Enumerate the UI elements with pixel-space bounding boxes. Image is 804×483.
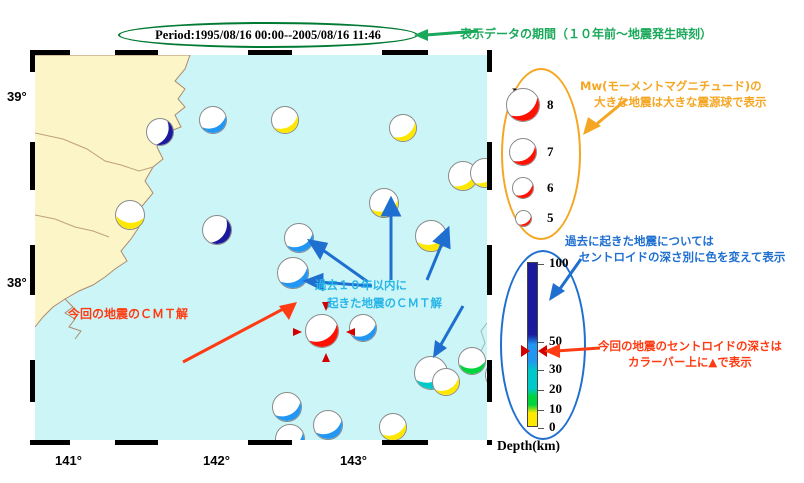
event-navy-coast[interactable] [202, 215, 232, 245]
event-yellow-lower[interactable] [379, 413, 407, 440]
period-text: Period:1995/08/16 00:00--2005/08/16 11:4… [118, 22, 418, 48]
depth-tick-mark-20 [538, 390, 544, 391]
main-event-arrow-icon [175, 300, 305, 370]
event-blue-lower-c[interactable] [313, 410, 343, 440]
event-blue-top[interactable] [199, 106, 227, 134]
event-blue-lower-b[interactable] [275, 424, 305, 440]
event-blue-lower-a[interactable] [272, 392, 302, 422]
past-events-note-line1: 過去１０年以内に [315, 277, 407, 293]
period-banner: Period:1995/08/16 00:00--2005/08/16 11:4… [118, 22, 418, 48]
depth-axis-label: Depth(km) [497, 438, 560, 454]
magnitude-symbol-6[interactable] [512, 177, 534, 199]
lat-tick-39: 39° [7, 89, 27, 104]
event-yellow-behind-teal[interactable] [432, 368, 460, 396]
magnitude-symbol-8[interactable] [506, 88, 540, 122]
magnitude-note: Mw(モーメントマグニチュード)の 大きな地震は大きな震源球で表示 [580, 78, 767, 110]
magnitude-label-5: 5 [547, 210, 554, 226]
past-events-note-line2: 起きた地震のＣＭＴ解 [327, 295, 442, 311]
magnitude-note-line1: Mw(モーメントマグニチュード)の [580, 78, 767, 94]
depth-tick-mark-100 [538, 264, 544, 265]
past-event-arrows-up-icon [355, 155, 465, 285]
lon-tick-142: 142° [203, 453, 230, 468]
lat-tick-38: 38° [7, 275, 27, 290]
depth-tick-mark-30 [538, 370, 544, 371]
map-panel[interactable]: 過去１０年以内に 起きた地震のＣＭＴ解 [30, 50, 492, 445]
magnitude-label-6: 6 [547, 180, 554, 196]
event-navy-north[interactable] [146, 118, 174, 146]
event-yellow-upper-right[interactable] [389, 114, 417, 142]
depth-tick-label-0: 0 [549, 419, 556, 435]
depth-note-line2: セントロイドの深さ別に色を変えて表示 [579, 249, 785, 265]
current-depth-note-line1: 今回の地震のセントロイドの深さは [598, 338, 782, 354]
magnitude-symbol-7[interactable] [509, 138, 537, 166]
event-yellow-land[interactable] [115, 200, 145, 230]
lon-tick-141: 141° [55, 453, 82, 468]
event-yellow-far-right[interactable] [485, 360, 487, 390]
depth-tick-mark-0 [538, 428, 544, 429]
magnitude-symbol-5[interactable] [515, 210, 532, 227]
magnitude-label-8: 8 [547, 97, 554, 113]
event-yellow-right-b[interactable] [470, 158, 487, 188]
depth-note: 過去に起きた地震については セントロイドの深さ別に色を変えて表示 [565, 233, 785, 265]
current-depth-note: 今回の地震のセントロイドの深さは カラーバー上に▲で表示 [598, 338, 782, 370]
map-canvas[interactable]: 過去１０年以内に 起きた地震のＣＭＴ解 [35, 55, 487, 440]
event-yellow-top[interactable] [271, 106, 299, 134]
depth-tick-mark-10 [538, 410, 544, 411]
depth-tick-label-10: 10 [549, 401, 562, 417]
period-annotation-text: 表示データの期間（１０年前〜地震発生時刻） [460, 25, 712, 42]
magnitude-label-7: 7 [547, 144, 554, 160]
depth-tick-label-20: 20 [549, 381, 562, 397]
magnitude-note-line2: 大きな地震は大きな震源球で表示 [594, 94, 767, 110]
marker-note-arrow-icon [540, 338, 602, 364]
current-depth-note-line2: カラーバー上に▲で表示 [628, 354, 782, 370]
main-event-note: 今回の地震のＣＭＴ解 [68, 305, 188, 322]
lon-tick-143: 143° [340, 453, 367, 468]
depth-note-line1: 過去に起きた地震については [565, 233, 785, 249]
